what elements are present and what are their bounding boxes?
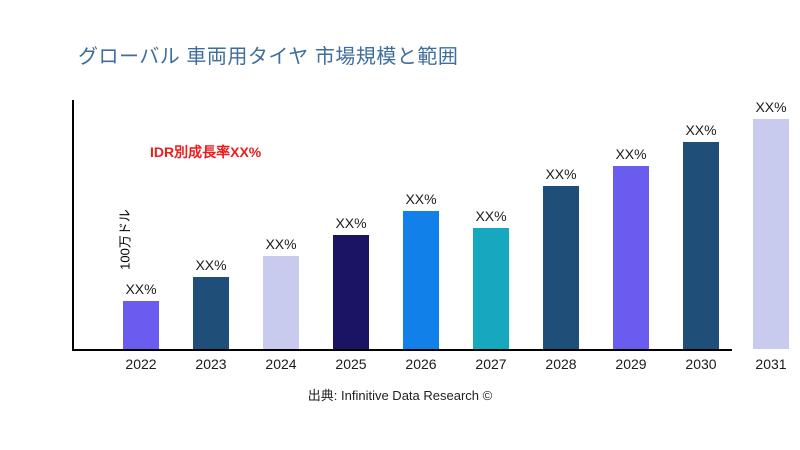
bar-value-label: XX% bbox=[615, 146, 646, 162]
chart-container: グローバル 車両用タイヤ 市場規模と範囲 100万ドル IDR別成長率XX% X… bbox=[0, 0, 800, 450]
bar-value-label: XX% bbox=[125, 281, 156, 297]
x-tick-label: 2030 bbox=[666, 356, 736, 372]
bar[interactable] bbox=[193, 277, 229, 349]
bar-value-label: XX% bbox=[545, 166, 576, 182]
bar[interactable] bbox=[333, 235, 369, 349]
x-tick-label: 2025 bbox=[316, 356, 386, 372]
bar[interactable] bbox=[683, 142, 719, 349]
bar[interactable] bbox=[613, 166, 649, 349]
bar[interactable] bbox=[473, 228, 509, 349]
bars-layer: XX%XX%XX%XX%XX%XX%XX%XX%XX%XX% bbox=[72, 100, 772, 351]
bar-value-label: XX% bbox=[405, 191, 436, 207]
bar-group: XX% bbox=[736, 100, 800, 351]
bar-group: XX% bbox=[176, 100, 246, 351]
bar-value-label: XX% bbox=[195, 257, 226, 273]
bar-value-label: XX% bbox=[755, 99, 786, 115]
x-tick-label: 2031 bbox=[736, 356, 800, 372]
bar-value-label: XX% bbox=[265, 236, 296, 252]
plot-area: 100万ドル IDR別成長率XX% XX%XX%XX%XX%XX%XX%XX%X… bbox=[72, 100, 772, 351]
bar-group: XX% bbox=[246, 100, 316, 351]
x-tick-label: 2026 bbox=[386, 356, 456, 372]
bar-group: XX% bbox=[106, 100, 176, 351]
bar-group: XX% bbox=[666, 100, 736, 351]
x-axis-tick-labels: 2022202320242025202620272028202920302031 bbox=[72, 356, 772, 378]
bar-group: XX% bbox=[526, 100, 596, 351]
bar-value-label: XX% bbox=[475, 208, 506, 224]
bar-value-label: XX% bbox=[685, 122, 716, 138]
bar[interactable] bbox=[123, 301, 159, 349]
x-tick-label: 2024 bbox=[246, 356, 316, 372]
x-tick-label: 2029 bbox=[596, 356, 666, 372]
chart-title: グローバル 車両用タイヤ 市場規模と範囲 bbox=[78, 40, 458, 69]
bar-value-label: XX% bbox=[335, 215, 366, 231]
x-tick-label: 2022 bbox=[106, 356, 176, 372]
bar[interactable] bbox=[403, 211, 439, 349]
bar-group: XX% bbox=[316, 100, 386, 351]
x-tick-label: 2028 bbox=[526, 356, 596, 372]
bar-group: XX% bbox=[596, 100, 666, 351]
bar[interactable] bbox=[263, 256, 299, 349]
source-note: 出典: Infinitive Data Research © bbox=[0, 385, 800, 404]
bar[interactable] bbox=[543, 186, 579, 349]
x-tick-label: 2027 bbox=[456, 356, 526, 372]
bar-group: XX% bbox=[456, 100, 526, 351]
x-tick-label: 2023 bbox=[176, 356, 246, 372]
bar[interactable] bbox=[753, 119, 789, 349]
bar-group: XX% bbox=[386, 100, 456, 351]
